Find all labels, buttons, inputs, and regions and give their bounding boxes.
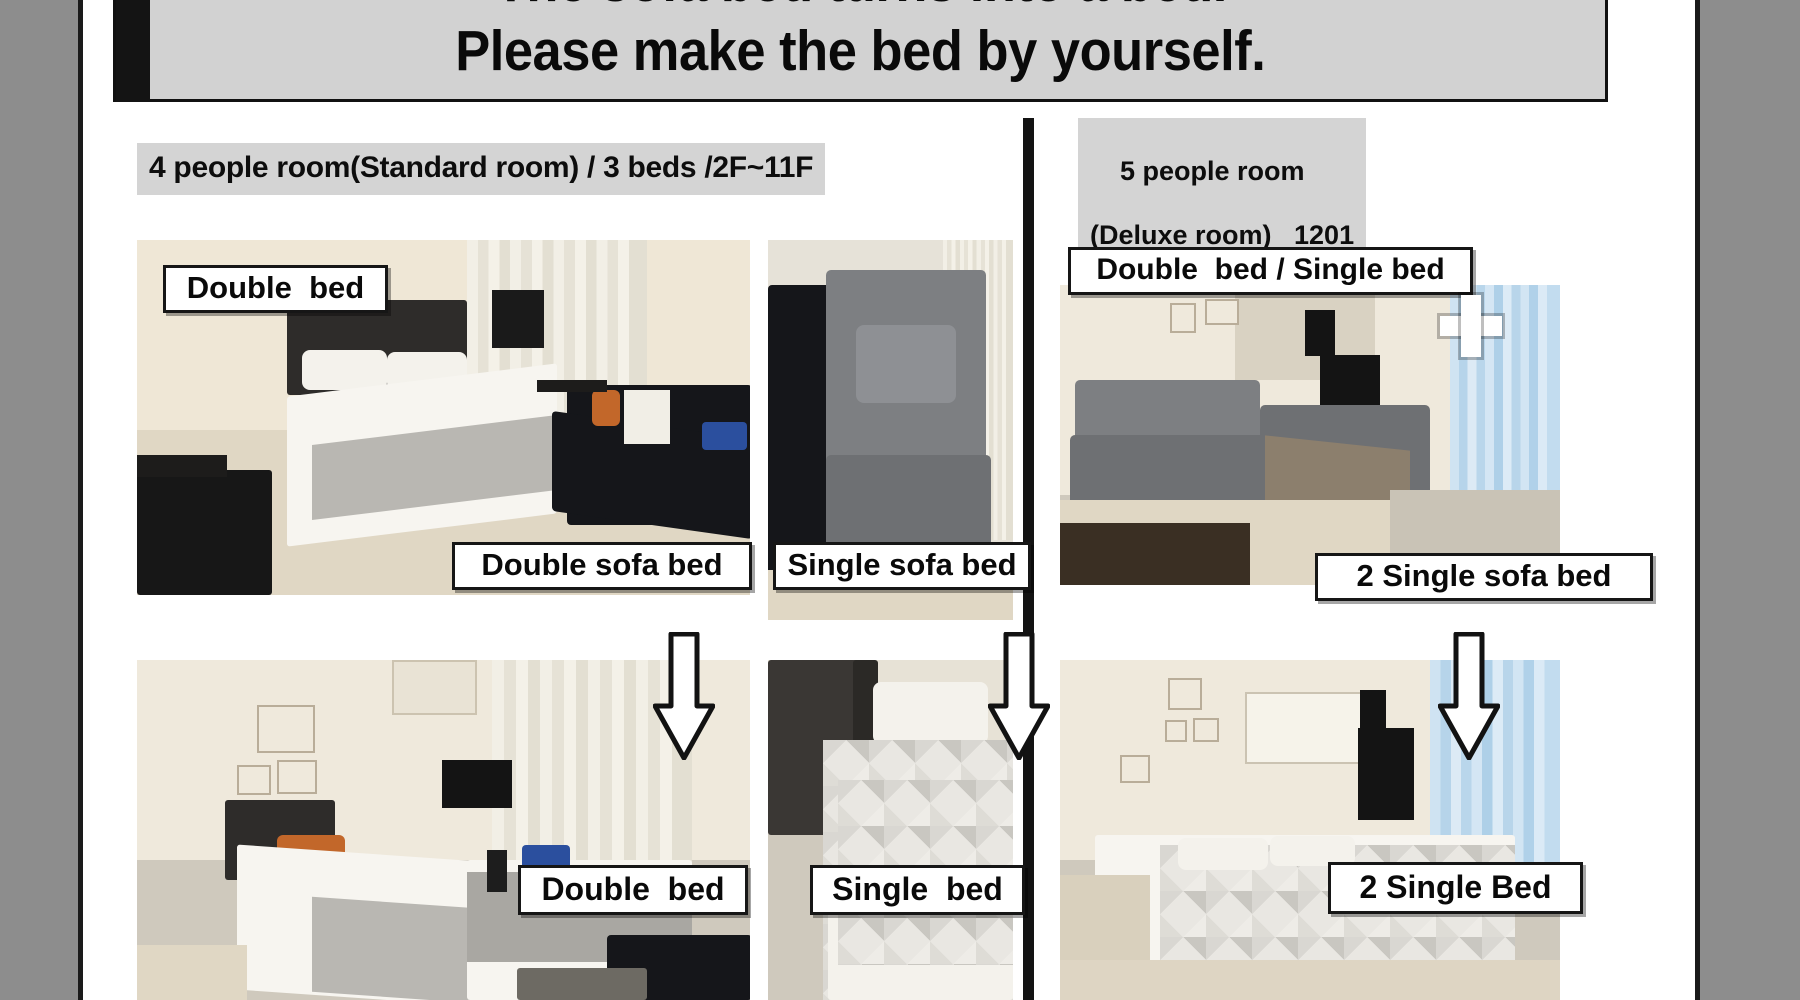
headline-line-1: The sofa bed turns into a bed. [494, 0, 1226, 11]
arrow-down-icon-deluxe [1438, 632, 1500, 760]
callout-deluxe-double-single-bed: Double bed / Single bed [1068, 247, 1473, 295]
callout-deluxe-two-single-sofa-bed: 2 Single sofa bed [1315, 553, 1653, 601]
headline-line-2: Please make the bed by yourself. [455, 19, 1265, 83]
plus-icon [1440, 295, 1502, 357]
arrow-down-icon-standard-double [653, 632, 715, 760]
poster-root: The sofa bed turns into a bed. Please ma… [78, 0, 1700, 1000]
deluxe-title-line-1: 5 people room [1120, 156, 1305, 186]
callout-standard-single-sofa-bed: Single sofa bed [773, 542, 1031, 590]
photo-standard-single-bed-made [768, 660, 1013, 1000]
callout-text: Double sofa bed [481, 547, 722, 583]
arrow-down-icon-standard-single [988, 632, 1050, 760]
callout-standard-double-bed-made: Double bed [518, 865, 748, 915]
headline-banner: The sofa bed turns into a bed. Please ma… [113, 0, 1608, 102]
callout-text: 2 Single sofa bed [1357, 558, 1612, 594]
callout-text: 2 Single Bed [1359, 869, 1551, 906]
callout-text: Double bed [541, 871, 724, 908]
callout-standard-single-bed-made: Single bed [810, 865, 1025, 915]
callout-standard-double-sofa-bed: Double sofa bed [452, 542, 752, 590]
callout-standard-double-bed: Double bed [163, 265, 388, 313]
callout-text: Single bed [832, 871, 1003, 908]
callout-text: Double bed [187, 270, 364, 306]
standard-room-title: 4 people room(Standard room) / 3 beds /2… [137, 143, 825, 195]
headline-accent-bar [116, 0, 150, 102]
callout-text: Single sofa bed [787, 547, 1016, 583]
callout-text: Double bed / Single bed [1096, 253, 1444, 287]
callout-deluxe-two-single-bed-made: 2 Single Bed [1328, 862, 1583, 914]
